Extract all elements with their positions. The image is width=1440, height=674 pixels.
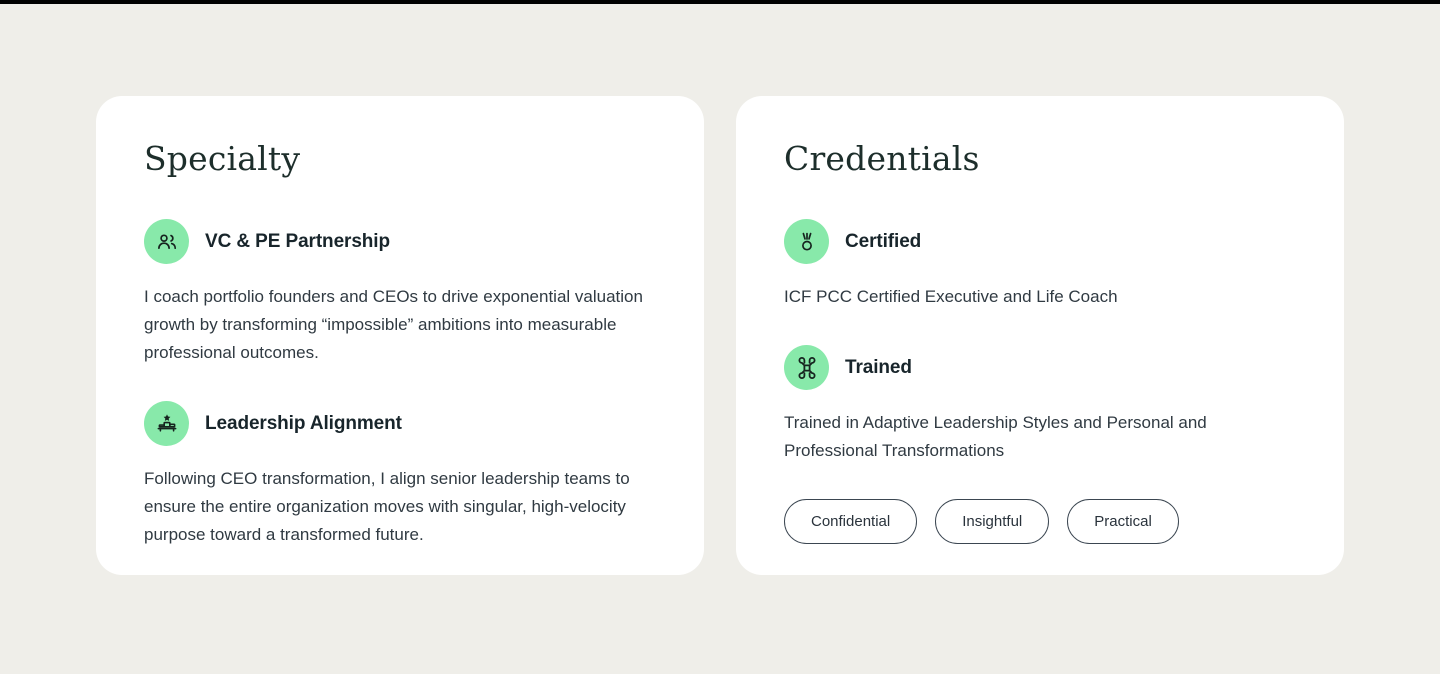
specialty-item-1-description: I coach portfolio founders and CEOs to d… xyxy=(144,283,656,367)
top-edge-strip xyxy=(0,0,1440,4)
specialty-item-2-label: Leadership Alignment xyxy=(205,413,402,435)
credentials-tag-list: Confidential Insightful Practical xyxy=(784,499,1296,544)
credentials-item-1-label: Certified xyxy=(845,231,921,253)
credentials-card-title: Credentials xyxy=(784,142,1296,175)
credentials-item-2-header: Trained xyxy=(784,345,1296,390)
specialty-item-2-header: Leadership Alignment xyxy=(144,401,656,446)
users-icon xyxy=(144,219,189,264)
specialty-card: Specialty VC & PE Partnership I coach po… xyxy=(96,96,704,575)
podium-star-icon xyxy=(144,401,189,446)
tag-confidential[interactable]: Confidential xyxy=(784,499,917,544)
credentials-card: Credentials Certified ICF PCC Certified … xyxy=(736,96,1344,575)
tag-practical[interactable]: Practical xyxy=(1067,499,1179,544)
specialty-item-vc-pe-partnership: VC & PE Partnership I coach portfolio fo… xyxy=(144,219,656,367)
specialty-item-leadership-alignment: Leadership Alignment Following CEO trans… xyxy=(144,401,656,549)
medal-icon xyxy=(784,219,829,264)
credentials-item-2-label: Trained xyxy=(845,357,912,379)
specialty-item-1-header: VC & PE Partnership xyxy=(144,219,656,264)
credentials-item-trained: Trained Trained in Adaptive Leadership S… xyxy=(784,345,1296,465)
credentials-item-2-description: Trained in Adaptive Leadership Styles an… xyxy=(784,409,1284,465)
credentials-item-certified: Certified ICF PCC Certified Executive an… xyxy=(784,219,1296,311)
specialty-item-1-label: VC & PE Partnership xyxy=(205,231,390,253)
page-root: Specialty VC & PE Partnership I coach po… xyxy=(0,0,1440,674)
credentials-item-1-header: Certified xyxy=(784,219,1296,264)
command-knot-icon xyxy=(784,345,829,390)
tag-insightful[interactable]: Insightful xyxy=(935,499,1049,544)
specialty-card-title: Specialty xyxy=(144,142,656,175)
credentials-item-1-description: ICF PCC Certified Executive and Life Coa… xyxy=(784,283,1284,311)
specialty-item-2-description: Following CEO transformation, I align se… xyxy=(144,465,656,549)
cards-row: Specialty VC & PE Partnership I coach po… xyxy=(96,96,1344,575)
